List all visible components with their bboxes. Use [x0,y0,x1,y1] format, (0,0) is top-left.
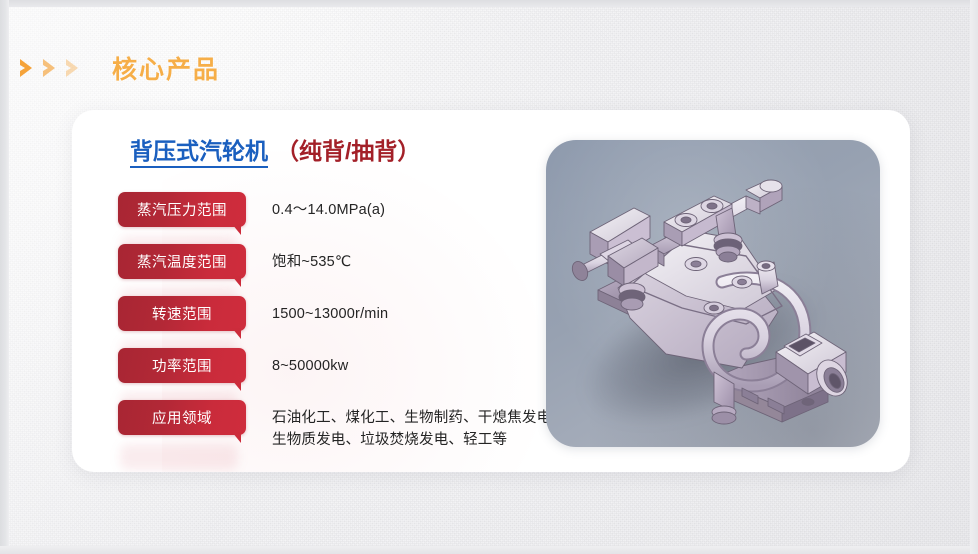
spec-label-wrap: 蒸汽压力范围 [118,192,246,227]
frame-edge-left [0,0,9,554]
content-card: 背压式汽轮机（纯背/抽背） 蒸汽压力范围 0.4～14.0MPa(a) 蒸汽温度… [72,110,910,472]
chevron-group [18,56,86,80]
spec-value: 0.4～14.0MPa(a) [272,192,588,221]
product-image-panel [546,140,880,447]
chevron-right-icon [64,56,86,80]
spec-value: 8~50000kw [272,348,588,377]
frame-edge-bottom [0,546,978,554]
spec-label-wrap: 功率范围 [118,348,246,383]
spec-label-glow [120,444,238,470]
spec-row: 应用领域 石油化工、煤化工、生物制药、干熄焦发电、 生物质发电、垃圾焚烧发电、轻… [118,400,588,452]
chevron-right-icon [41,56,63,80]
spec-row: 转速范围 1500~13000r/min [118,296,588,346]
spec-label-tag: 蒸汽压力范围 [118,192,246,227]
spec-value: 石油化工、煤化工、生物制药、干熄焦发电、 生物质发电、垃圾焚烧发电、轻工等 [272,400,588,452]
product-title-main: 背压式汽轮机 [130,138,268,168]
spec-label-wrap: 蒸汽温度范围 [118,244,246,279]
chevron-right-icon [18,56,40,80]
slide-canvas: 核心产品 背压式汽轮机（纯背/抽背） 蒸汽压力范围 0.4～14.0MPa(a)… [0,0,978,554]
spec-label-tag: 功率范围 [118,348,246,383]
spec-row: 蒸汽温度范围 饱和~535℃ [118,244,588,294]
spec-label-tag: 转速范围 [118,296,246,331]
spec-label-wrap: 应用领域 [118,400,246,435]
frame-edge-top [0,0,978,7]
product-title: 背压式汽轮机（纯背/抽背） [130,138,420,166]
frame-edge-right [970,0,978,554]
spec-row: 功率范围 8~50000kw [118,348,588,398]
spec-row: 蒸汽压力范围 0.4～14.0MPa(a) [118,192,588,242]
spec-list: 蒸汽压力范围 0.4～14.0MPa(a) 蒸汽温度范围 饱和~535℃ 转速范… [118,192,588,452]
spec-label-tag: 蒸汽温度范围 [118,244,246,279]
spec-value: 1500~13000r/min [272,296,588,325]
spec-value: 饱和~535℃ [272,244,588,273]
spec-label-tag: 应用领域 [118,400,246,435]
product-title-sub: （纯背/抽背） [276,138,420,164]
steam-turbine-3d-render [546,140,880,447]
section-title: 核心产品 [112,50,220,86]
section-header: 核心产品 [18,50,220,86]
spec-label-wrap: 转速范围 [118,296,246,331]
